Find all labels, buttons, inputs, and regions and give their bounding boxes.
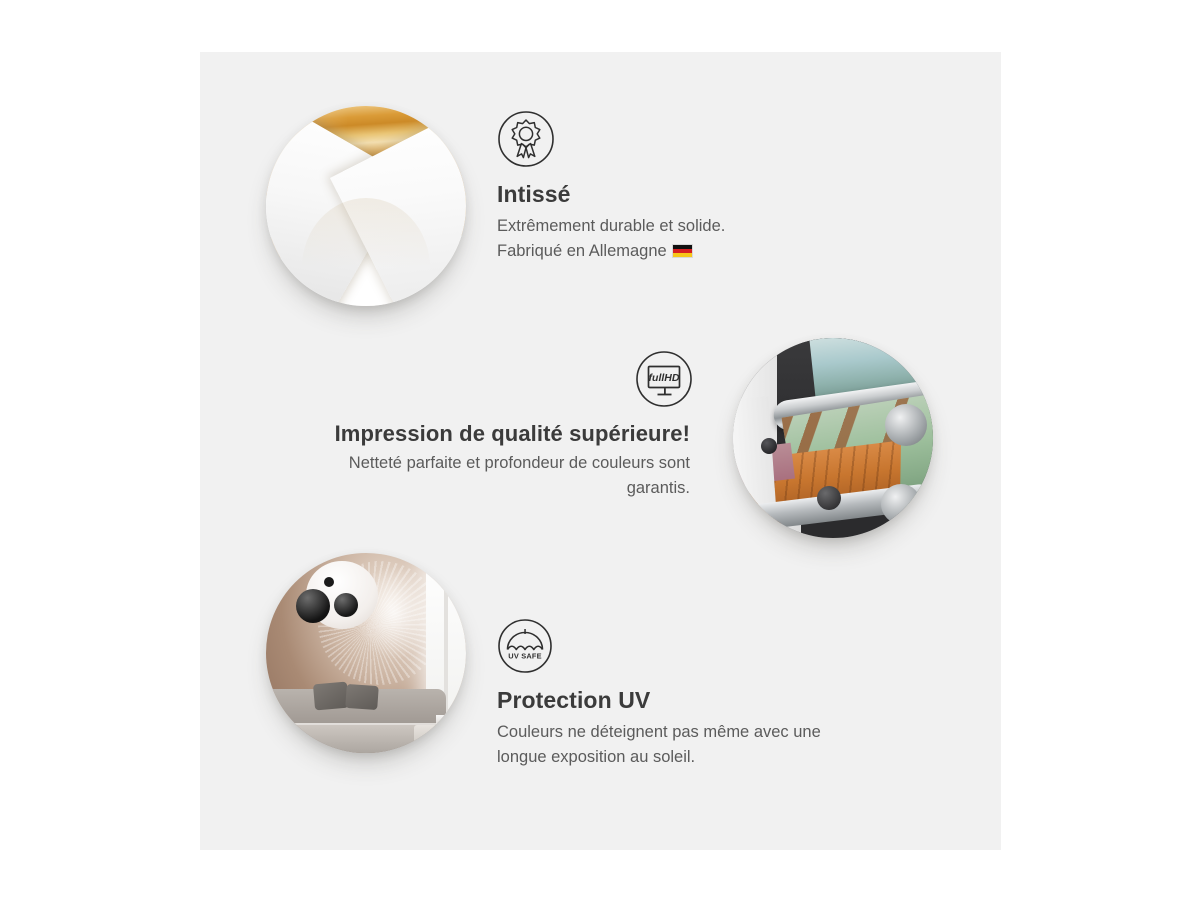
fullhd-monitor-icon: fullHD xyxy=(635,350,693,408)
feature-headline: Intissé xyxy=(497,182,827,207)
product-feature-graphic: Intissé Extrêmement durable et solide. F… xyxy=(0,0,1200,900)
living-room-mural-photo xyxy=(266,553,466,753)
uv-safe-label: UV SAFE xyxy=(508,652,541,661)
feature-block-intisse: Intissé Extrêmement durable et solide. F… xyxy=(497,110,827,263)
feature-body: Couleurs ne déteignent pas même avec une… xyxy=(497,720,897,769)
feature-body: Netteté parfaite et profondeur de couleu… xyxy=(286,451,690,500)
uv-safe-umbrella-icon: UV SAFE xyxy=(497,618,553,674)
feature-body-line2: garantis. xyxy=(627,479,690,497)
feature-body-line1: Couleurs ne déteignent pas même avec une xyxy=(497,723,821,741)
feature-body-line2: longue exposition au soleil. xyxy=(497,748,695,766)
wallpaper-peeled-corner-photo xyxy=(266,106,466,306)
feature-headline: Protection UV xyxy=(497,688,897,713)
printing-press-photo xyxy=(733,338,933,538)
feature-headline: Impression de qualité supérieure! xyxy=(286,422,690,446)
feature-body-line1: Extrêmement durable et solide. xyxy=(497,217,725,235)
feature-body-line2: Fabriqué en Allemagne xyxy=(497,242,667,260)
feature-body: Extrêmement durable et solide. Fabriqué … xyxy=(497,214,827,263)
feature-body-line1: Netteté parfaite et profondeur de couleu… xyxy=(349,454,690,472)
fullhd-label: fullHD xyxy=(649,372,680,384)
feature-block-print-quality: fullHD Impression de qualité supérieure!… xyxy=(286,350,690,500)
feature-block-uv-protection: UV SAFE Protection UV Couleurs ne déteig… xyxy=(497,618,897,769)
award-rosette-icon xyxy=(497,110,555,168)
german-flag-icon xyxy=(672,244,693,258)
